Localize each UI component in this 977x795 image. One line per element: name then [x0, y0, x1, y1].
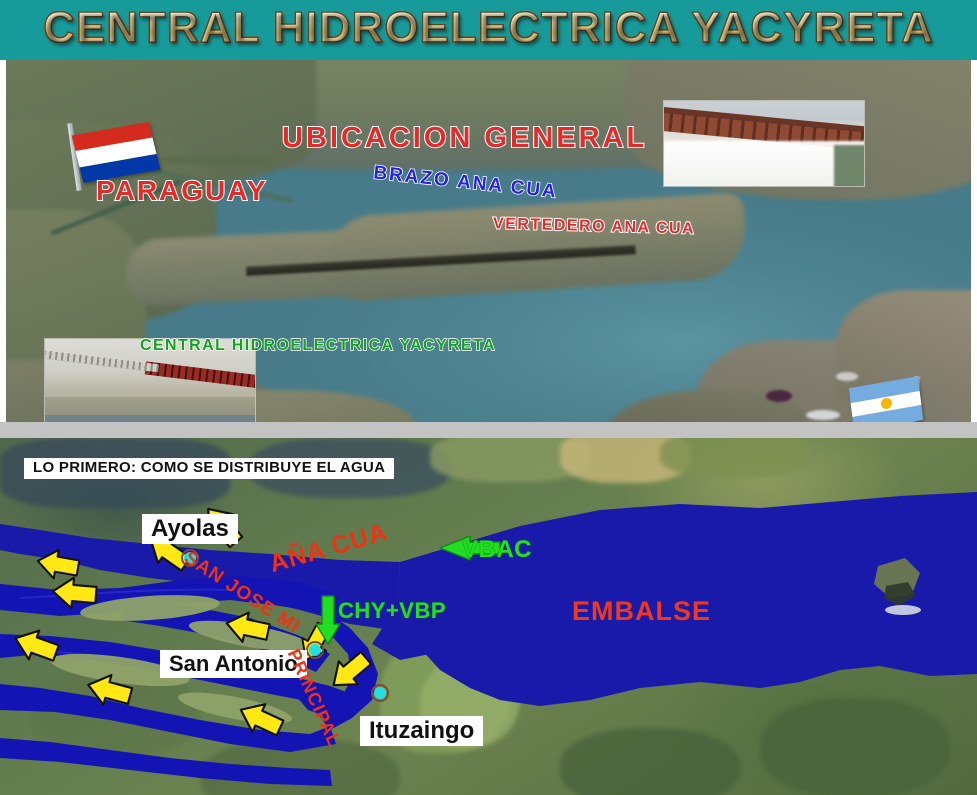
label-paraguay: PARAGUAY: [96, 175, 268, 207]
slide-header: CENTRAL HIDROELECTRICA YACYRETA: [0, 0, 977, 60]
label-central-hidroelectrica: CENTRAL HIDROELECTRICA YACYRETA: [140, 337, 496, 355]
distribucion-agua-panel: LO PRIMERO: COMO SE DISTRIBUYE EL AGUA A…: [0, 438, 977, 795]
slide-root: CENTRAL HIDROELECTRICA YACYRETA: [0, 0, 977, 795]
city-label-ayolas: Ayolas: [142, 514, 238, 544]
panel-divider: [0, 422, 977, 438]
ubicacion-general-panel: UBICACION GENERAL PARAGUAY BRAZO ANA CUA…: [6, 60, 971, 422]
water-label-embalse: EMBALSE: [572, 596, 711, 627]
page-title: CENTRAL HIDROELECTRICA YACYRETA: [0, 3, 977, 53]
vertedero-ana-cua-photo: [663, 100, 865, 187]
caption-lo-primero: LO PRIMERO: COMO SE DISTRIBUYE EL AGUA: [24, 458, 394, 479]
city-dot-san-antonio: [307, 642, 323, 658]
flow-label-chy-vbp: CHY+VBP: [338, 598, 446, 624]
sun-of-may-icon: [880, 398, 892, 411]
flow-label-vbac: VBAC: [462, 536, 532, 564]
city-dot-layer: [0, 438, 977, 795]
city-label-ituzaingo: Ituzaingo: [360, 716, 483, 746]
section-title-ubicacion: UBICACION GENERAL: [282, 122, 647, 155]
city-dot-ituzaingo: [372, 685, 388, 701]
